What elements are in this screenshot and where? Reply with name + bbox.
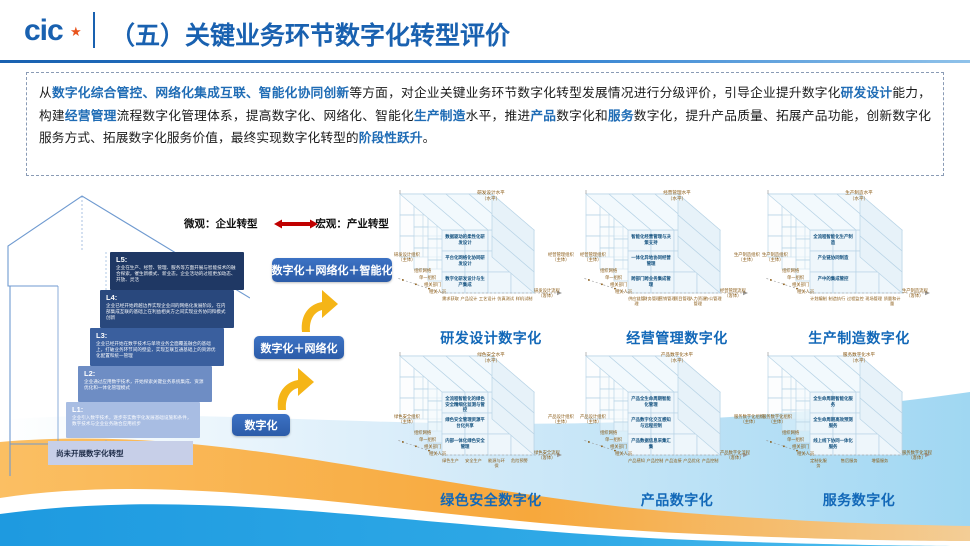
axis-label-unit: （客体） xyxy=(720,455,750,460)
cube-axis-subject-label: 生产制造组织（主体） xyxy=(762,252,788,263)
cube-org-level-label: 相关人员 xyxy=(429,289,446,294)
cube-caption: 产品数字化 xyxy=(584,490,770,510)
axis-label-unit: （主体） xyxy=(548,419,574,424)
cube-process-tick-label: 售后服务 xyxy=(841,458,858,463)
axis-label-unit: （客体） xyxy=(902,455,932,460)
level-id: L4: xyxy=(106,293,229,302)
maturity-level-l4: L4: 企业已经开始跨越边界实现企业间的网络化发展阶段，在内部集成互联的基础上在… xyxy=(100,290,234,328)
cube-process-tick-label: 现场管理 xyxy=(865,296,882,301)
cube-process-tick-label: 定制化服务 xyxy=(810,458,827,468)
macro-label: 宏观：产业转型 xyxy=(315,218,389,230)
cube-diagram: 生产制造水平（水平）生产制造组织（主体）生产制造流程（客体）组织网络单一组织相关… xyxy=(766,190,952,350)
highlight-phrase: 产品 xyxy=(530,109,556,123)
cube-process-tick-label: 仿真测试 xyxy=(497,296,514,301)
cube-axis-flow-label: 绿色安全流程（客体） xyxy=(534,450,560,461)
cube-org-level-label: 相关人员 xyxy=(615,451,632,456)
axis-label-unit: （主体） xyxy=(548,257,574,262)
cube-face-text: 平台化网络化协同研发设计 xyxy=(444,255,486,266)
level-id: L5: xyxy=(116,255,239,264)
cube-org-level-label: 单一组织 xyxy=(605,275,622,280)
cube-grid: 研发设计水平（水平）研发设计组织（主体）经营管理组织（主体）研发设计流程（客体）… xyxy=(398,190,970,520)
level-desc: 企业引入数字技术，逐步夯实数字化发展基础设施和条件，数字技术与企业业务融合应用初… xyxy=(72,415,195,427)
cube-face-text: 全流程智能化生产制造 xyxy=(812,234,854,245)
axis-label-unit: （客体） xyxy=(720,293,746,298)
cube-face-text: 全生命周期高效预测服务 xyxy=(812,417,854,428)
cube-axis-flow-label: 产品数字化流程（客体） xyxy=(720,450,750,461)
cube-diagram: 绿色安全水平（水平）绿色安全组织（主体）产品设计组织（主体）绿色安全流程（客体）… xyxy=(398,352,584,512)
highlight-phrase: 阶段性跃升 xyxy=(359,131,423,145)
cube-process-tick-label: 增值服务 xyxy=(871,458,888,463)
cube-org-level-label: 单一组织 xyxy=(419,275,436,280)
cube-caption: 绿色安全数字化 xyxy=(398,490,584,510)
cube-diagram: 研发设计水平（水平）研发设计组织（主体）经营管理组织（主体）研发设计流程（客体）… xyxy=(398,190,584,350)
curved-arrow-up-icon xyxy=(296,282,340,334)
cube-caption: 服务数字化 xyxy=(766,490,952,510)
cube-axis-vertical-label: 服务数字化水平（水平） xyxy=(766,352,952,363)
maturity-level-l5: L5: 企业在生产、经营、管理、服务等方面开展与智能技术的融合探索，催生新模式、… xyxy=(110,252,244,290)
cube-process-tick-label: 危险预警 xyxy=(511,458,528,463)
cube-diagram: 经营管理水平（水平）经营管理组织（主体）生产制造组织（主体）经营管理流程（客体）… xyxy=(584,190,770,350)
level-desc: 企业通过应用数字技术，开始探索关键业务系统集成、资源优化和一体化管理模式 xyxy=(84,379,207,391)
cube-caption: 研发设计数字化 xyxy=(398,328,584,348)
cube-process-tick-label: 产品设计 xyxy=(460,296,477,301)
star-icon: ★ xyxy=(70,25,82,38)
body-text: 水平，推进 xyxy=(466,109,531,123)
highlight-phrase: 经营管理 xyxy=(65,109,117,123)
body-text: 流程数字化管理体系，提高数字化、网络化、智能化 xyxy=(117,109,414,123)
cube-face-text: 产品数字化交互感知与远程控制 xyxy=(630,417,672,428)
cube-org-level-label: 单一组织 xyxy=(787,437,804,442)
cube-face-text: 一体化异地协同经营管理 xyxy=(630,255,672,266)
cube-org-level-label: 相关部门 xyxy=(610,444,627,449)
level-id: L3: xyxy=(96,331,219,340)
cube-axis-vertical-label: 研发设计水平（水平） xyxy=(398,190,584,201)
cube-axis-flow-label: 服务数字化流程（客体） xyxy=(902,450,932,461)
cube-face-text: 产品数据信息采集汇集 xyxy=(630,438,672,449)
cube-process-tick-label: 办公管理 xyxy=(705,296,722,301)
cube-axis-flow-label: 研发设计流程（客体） xyxy=(534,288,560,299)
axis-label-unit: （主体） xyxy=(394,257,420,262)
cube-caption: 生产制造数字化 xyxy=(766,328,952,348)
cube-org-level-label: 相关部门 xyxy=(610,282,627,287)
cube-axis-subject-label-right: 生产制造组织（主体） xyxy=(734,252,760,263)
axis-label-unit: （主体） xyxy=(580,419,606,424)
cube-face-text: 跨部门跨业务集成管理 xyxy=(630,276,672,287)
cube-face-text: 内部一体化绿色安全管理 xyxy=(444,438,486,449)
cube-process-tick-label: 计划编制 xyxy=(810,296,827,301)
cube-process-tick-label: 样机试制 xyxy=(516,296,533,301)
cube-process-tick-label: 绿色生产 xyxy=(442,458,459,463)
cube-face-text: 产中的集成管控 xyxy=(812,276,854,282)
body-text: 。 xyxy=(423,131,436,145)
cube-face-text: 线上线下协同一体化服务 xyxy=(812,438,854,449)
level-desc: 企业已经开始在数字技术与单项业务全面覆盖融合的基础上，打破业务环节间的壁垒，实现… xyxy=(96,341,219,360)
cube-axis-subject-label-right: 产品设计组织（主体） xyxy=(548,414,574,425)
cube-face-text: 产品全生命周期智能化管理 xyxy=(630,396,672,407)
cube-process-tick-label: 产品控制 xyxy=(646,458,663,463)
cube-face-text: 产业链协同制造 xyxy=(812,255,854,261)
cube-axis-subject-label: 服务数字化组织（主体） xyxy=(762,414,792,425)
cube-axis-vertical-label: 生产制造水平（水平） xyxy=(766,190,952,201)
highlight-phrase: 服务 xyxy=(608,109,634,123)
cube-org-level-label: 相关人员 xyxy=(615,289,632,294)
cube-face-text: 数字化研发设计与生产集成 xyxy=(444,276,486,287)
body-text: 从 xyxy=(39,86,52,100)
cube-org-level-label: 相关部门 xyxy=(792,282,809,287)
cube-org-level-label: 相关部门 xyxy=(424,282,441,287)
highlight-phrase: 研发设计 xyxy=(841,86,893,100)
cube-process-tick-label: 工艺设计 xyxy=(479,296,496,301)
cube-axis-flow-label: 经营管理流程（客体） xyxy=(720,288,746,299)
logo-wordmark: cic xyxy=(24,14,63,47)
cube-graphic xyxy=(766,190,952,330)
axis-label-unit: （主体） xyxy=(734,257,760,262)
cube-axis-subject-label: 经营管理组织（主体） xyxy=(580,252,606,263)
cube-axis-subject-label: 研发设计组织（主体） xyxy=(394,252,420,263)
cube-axis-vertical-label: 绿色安全水平（水平） xyxy=(398,352,584,363)
axis-label-unit: （水平） xyxy=(766,196,952,202)
cube-org-level-label: 相关部门 xyxy=(424,444,441,449)
cube-process-tick-label: 能源与环保 xyxy=(488,458,505,468)
description-text: 从数字化综合管控、网络化集成互联、智能化协同创新等方面，对企业关键业务环节数字化… xyxy=(39,82,931,150)
axis-label-unit: （客体） xyxy=(534,293,560,298)
cube-process-tick-label: 产品优化 xyxy=(683,458,700,463)
axis-label-unit: （主体） xyxy=(580,257,606,262)
cube-caption: 经营管理数字化 xyxy=(584,328,770,348)
cube-org-level-label: 相关人员 xyxy=(797,451,814,456)
cube-org-level-label: 组织网络 xyxy=(782,430,799,435)
axis-label-unit: （水平） xyxy=(584,358,770,364)
axis-label-unit: （水平） xyxy=(766,358,952,364)
cube-face-text: 全流程智能化的绿色安全精细化监测与管控 xyxy=(444,396,486,413)
cube-axis-vertical-label: 经营管理水平（水平） xyxy=(584,190,770,201)
body-text: 等方面，对企业关键业务环节数字化转型发展情况进行分级评价，引导企业提升数字化 xyxy=(349,86,840,100)
cube-process-tick-label: 产品控制 xyxy=(702,458,719,463)
level-id: L1: xyxy=(72,405,195,414)
header-rule xyxy=(0,60,970,63)
page-title: （五）关键业务环节数字化转型评价 xyxy=(110,16,510,52)
cube-face-text: 数据驱动的柔性化研发设计 xyxy=(444,234,486,245)
axis-label-unit: （水平） xyxy=(398,196,584,202)
highlight-phrase: 数字化综合管控、网络化集成互联、智能化协同创新 xyxy=(52,86,349,100)
cube-axis-flow-label: 生产制造流程（客体） xyxy=(902,288,928,299)
body-text: 数字化和 xyxy=(556,109,608,123)
cube-org-level-label: 单一组织 xyxy=(419,437,436,442)
cube-process-tick-label: 产品感知 xyxy=(628,458,645,463)
micro-label: 微观：企业转型 xyxy=(184,218,258,230)
cube-org-level-label: 组织网络 xyxy=(414,268,431,273)
axis-label-unit: （主体） xyxy=(762,419,792,424)
level-desc: 企业在生产、经营、管理、服务等方面开展与智能技术的融合探索，催生新模式、新业态。… xyxy=(116,265,239,284)
header-divider xyxy=(93,12,95,48)
curved-arrow-up-icon xyxy=(272,360,316,412)
cube-axis-subject-label-right: 经营管理组织（主体） xyxy=(548,252,574,263)
cube-org-level-label: 组织网络 xyxy=(414,430,431,435)
cube-axis-subject-label: 产品设计组织（主体） xyxy=(580,414,606,425)
axis-label-unit: （客体） xyxy=(534,455,560,460)
cube-process-tick-label: 制造执行 xyxy=(828,296,845,301)
cube-face-text: 智能化经营管理与决策支持 xyxy=(630,234,672,245)
cube-process-tick-label: 过程监控 xyxy=(847,296,864,301)
cube-org-level-label: 组织网络 xyxy=(600,268,617,273)
cube-org-level-label: 组织网络 xyxy=(600,430,617,435)
cube-axis-subject-label: 绿色安全组织（主体） xyxy=(394,414,420,425)
axis-label-unit: （主体） xyxy=(394,419,420,424)
maturity-level-l3: L3: 企业已经开始在数字技术与单项业务全面覆盖融合的基础上，打破业务环节间的壁… xyxy=(90,328,224,366)
cube-process-tick-label: 安全生产 xyxy=(465,458,482,463)
cube-process-tick-label: 需求获取 xyxy=(442,296,459,301)
cube-diagram: 产品数字化水平（水平）产品设计组织（主体）服务数字化组织（主体）产品数字化流程（… xyxy=(584,352,770,512)
axis-label-unit: （主体） xyxy=(734,419,764,424)
cube-org-level-label: 相关部门 xyxy=(792,444,809,449)
cube-process-tick-label: 质量和计量 xyxy=(884,296,901,306)
cube-graphic xyxy=(766,352,952,492)
cube-org-level-label: 单一组织 xyxy=(787,275,804,280)
cube-diagram: 服务数字化水平（水平）服务数字化组织（主体）服务数字化流程（客体）组织网络单一组… xyxy=(766,352,952,512)
level-id: L2: xyxy=(84,369,207,378)
highlight-phrase: 生产制造 xyxy=(414,109,466,123)
cube-org-level-label: 相关人员 xyxy=(429,451,446,456)
description-box: 从数字化综合管控、网络化集成互联、智能化协同创新等方面，对企业关键业务环节数字化… xyxy=(26,72,944,176)
cube-process-tick-label: 产品连接 xyxy=(665,458,682,463)
slide-header: cic ★ （五）关键业务环节数字化转型评价 xyxy=(0,0,970,62)
stage-pill-digital: 数字化 xyxy=(232,414,290,436)
cube-org-level-label: 单一组织 xyxy=(605,437,622,442)
stage-pill-digital-network-intelligent: 数字化＋网络化＋智能化 xyxy=(272,258,392,282)
cube-org-level-label: 组织网络 xyxy=(782,268,799,273)
slide-root: cic ★ （五）关键业务环节数字化转型评价 从数字化综合管控、网络化集成互联、… xyxy=(0,0,970,546)
axis-label-unit: （水平） xyxy=(584,196,770,202)
cube-face-text: 绿色安全管理资源平台化共享 xyxy=(444,417,486,428)
maturity-ladder-panel: 微观：企业转型 宏观：产业转型 L5: 企业在生产、经营、管理、服务等方面开展与… xyxy=(0,186,400,486)
cube-axis-vertical-label: 产品数字化水平（水平） xyxy=(584,352,770,363)
maturity-level-l1: L1: 企业引入数字技术，逐步夯实数字化发展基础设施和条件，数字技术与企业业务融… xyxy=(66,402,200,438)
axis-label-unit: （主体） xyxy=(762,257,788,262)
maturity-level-zero: 尚未开展数字化转型 xyxy=(48,441,193,465)
cube-org-level-label: 相关人员 xyxy=(797,289,814,294)
stage-pill-digital-network: 数字化＋网络化 xyxy=(254,336,344,359)
axis-label-unit: （水平） xyxy=(398,358,584,364)
cube-axis-subject-label-right: 服务数字化组织（主体） xyxy=(734,414,764,425)
bidirectional-arrow-icon xyxy=(272,217,320,231)
cic-logo: cic ★ xyxy=(24,14,104,48)
level-desc: 企业已经开始跨越边界实现企业间的网络化发展阶段，在内部集成互联的基础上在利益相关… xyxy=(106,303,229,322)
cube-face-text: 全生命周期智能化服务 xyxy=(812,396,854,407)
maturity-level-l2: L2: 企业通过应用数字技术，开始探索关键业务系统集成、资源优化和一体化管理模式 xyxy=(78,366,212,402)
axis-label-unit: （客体） xyxy=(902,293,928,298)
